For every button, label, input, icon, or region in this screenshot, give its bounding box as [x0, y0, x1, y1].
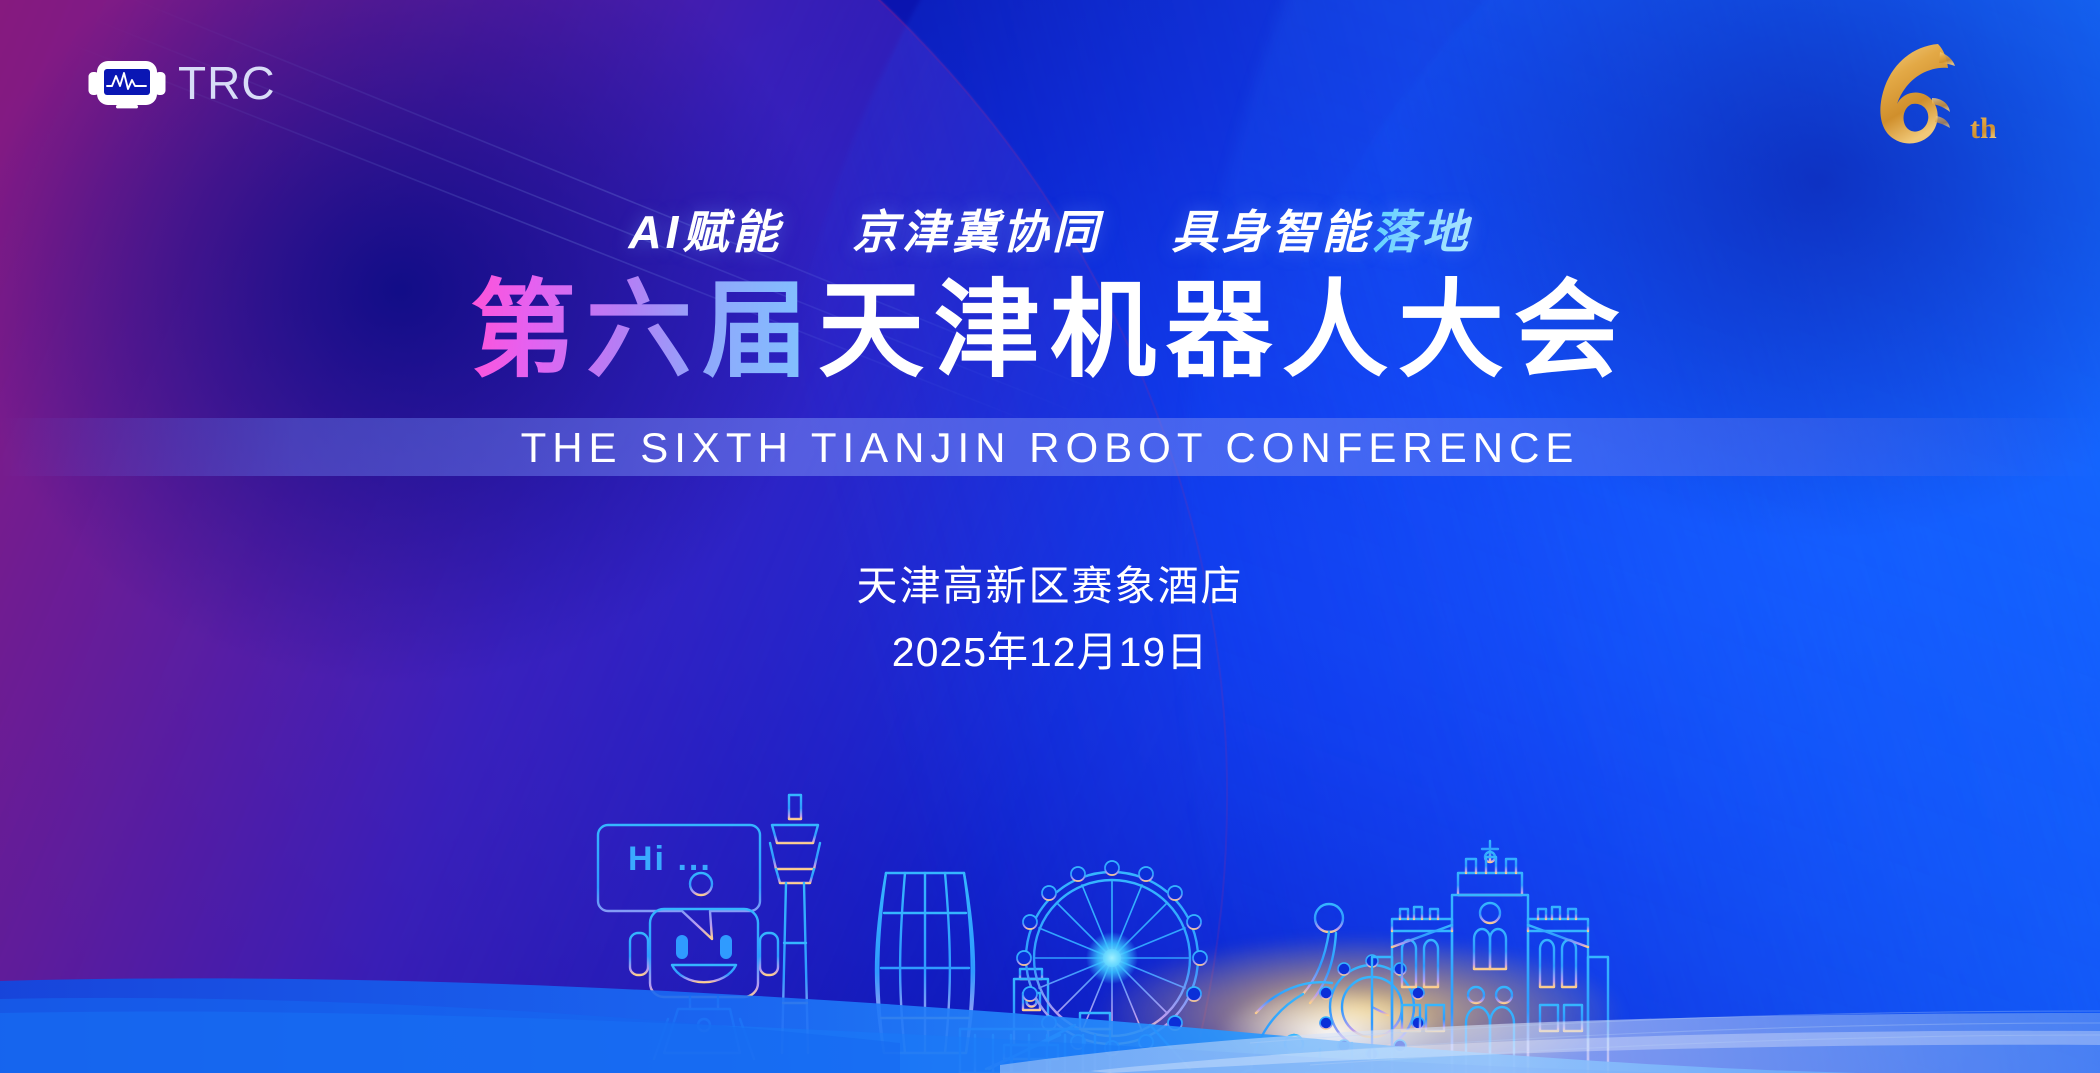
brand-wordmark: TRC	[178, 60, 276, 106]
conference-poster: TRC th 6 th	[0, 0, 2100, 1073]
robot-speech-text: Hi ...	[614, 835, 750, 883]
tagline-part-0: AI赋能	[628, 196, 782, 262]
skyline-scene: Hi ...	[0, 713, 2100, 1073]
trc-robot-head-icon	[88, 55, 166, 111]
edition-number-glyph	[1880, 44, 1955, 143]
page-title: 第六届天津机器人大会	[0, 272, 2100, 391]
skyline-illustration	[0, 713, 2100, 1073]
tagline-part-2: 具身智能	[1172, 196, 1372, 262]
edition-badge: th	[1852, 38, 2012, 146]
brand-logo[interactable]: TRC	[88, 55, 276, 111]
subtitle-english: THE SIXTH TIANJIN ROBOT CONFERENCE	[0, 424, 2100, 472]
tagline-part-1: 京津冀协同	[852, 196, 1102, 262]
title-edition: 第六届	[470, 272, 818, 390]
tagline-part-3-accent: 落地	[1372, 196, 1472, 262]
edition-suffix: th	[1970, 112, 1997, 145]
venue-text: 天津高新区赛象酒店	[0, 552, 2100, 612]
hero-tagline: AI赋能 京津冀协同 具身智能落地	[0, 196, 2100, 262]
title-main: 天津机器人大会	[818, 272, 1630, 390]
date-text: 2025年12月19日	[0, 618, 2100, 678]
